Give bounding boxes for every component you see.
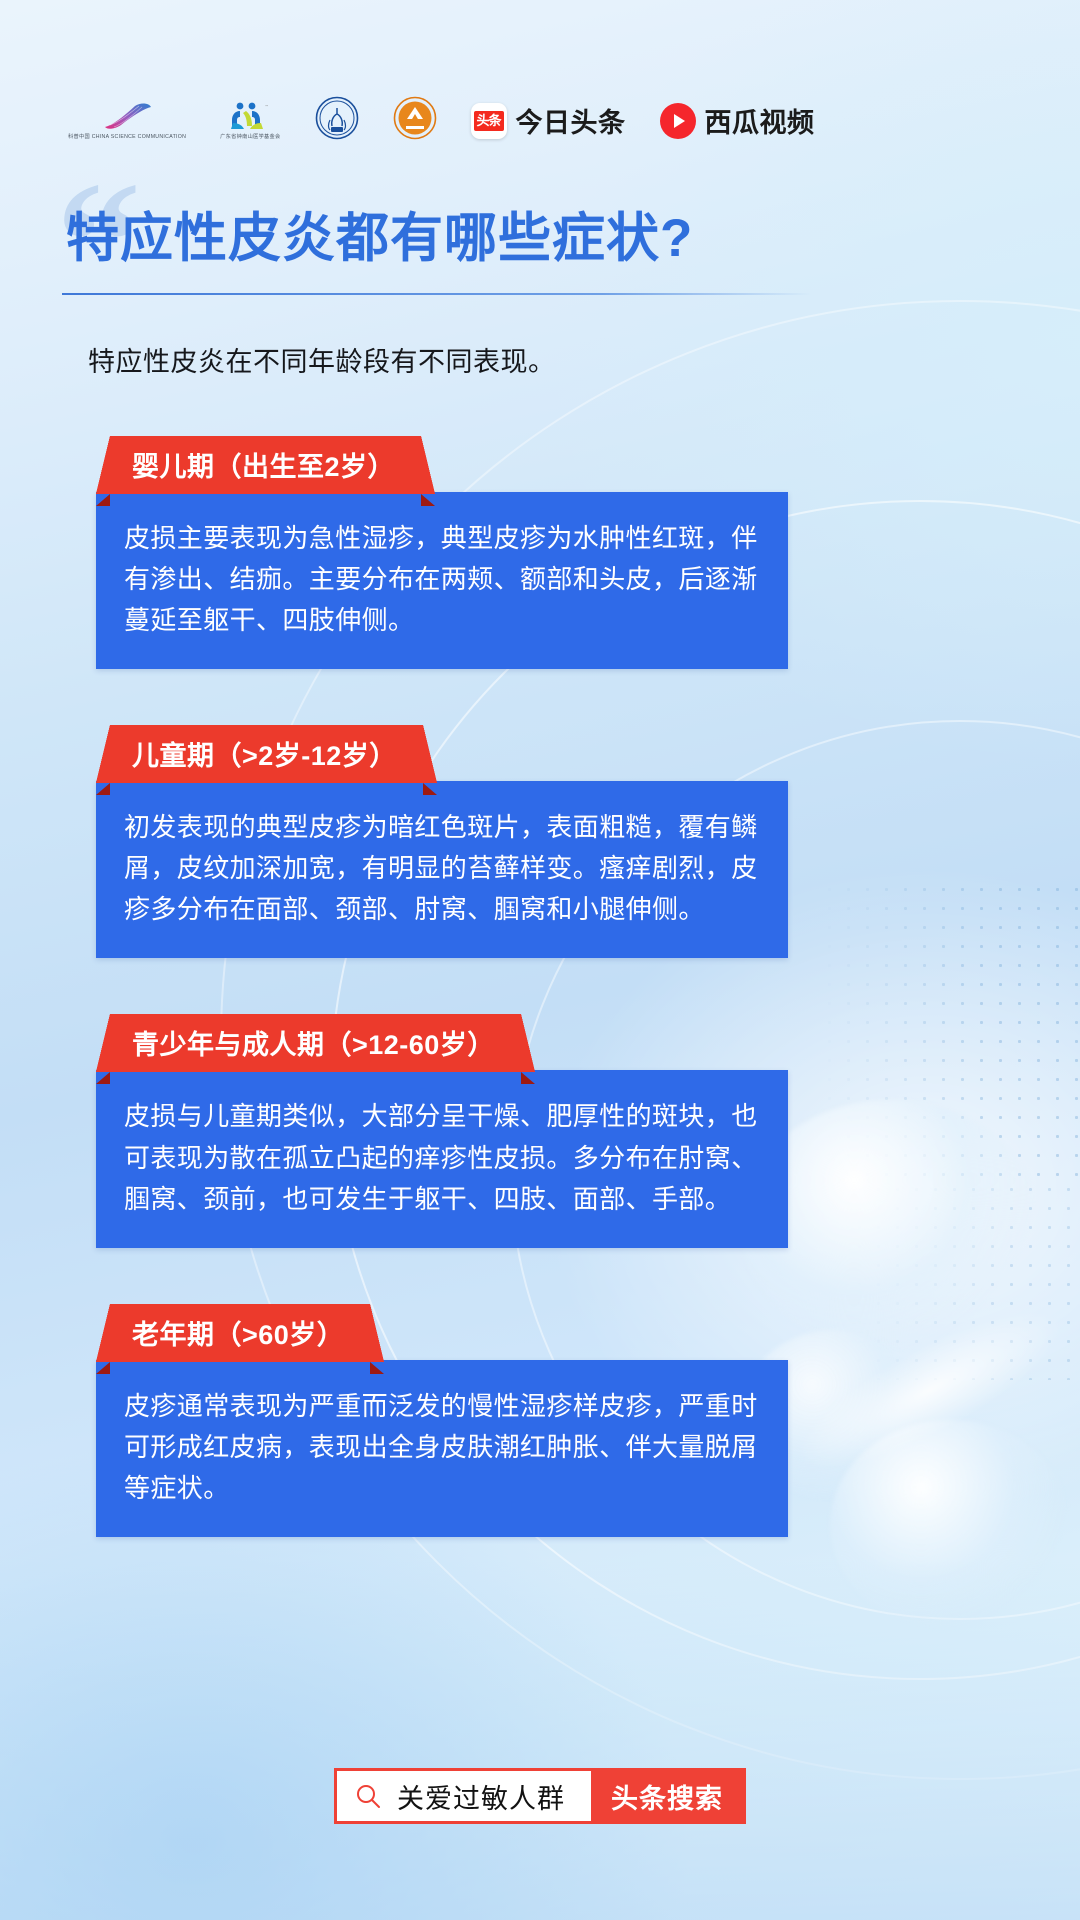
ribbon-fold-right xyxy=(521,1014,535,1072)
decorative-glow-two xyxy=(830,1420,1070,1630)
ribbon-fold-left xyxy=(96,436,110,494)
science-communication-icon xyxy=(101,101,153,131)
age-stage-card: 儿童期（>2岁-12岁） 初发表现的典型皮疹为暗红色斑片，表面粗糙，覆有鳞屑，皮… xyxy=(96,725,788,958)
search-input[interactable]: 关爱过敏人群 xyxy=(337,1771,591,1821)
card-ribbon-header: 儿童期（>2岁-12岁） xyxy=(110,725,423,783)
logo-caption: 广东省钟南山医学基金会 xyxy=(220,134,280,141)
card-ribbon-header: 婴儿期（出生至2岁） xyxy=(110,436,421,494)
age-stage-card: 青少年与成人期（>12-60岁） 皮损与儿童期类似，大部分呈干燥、肥厚性的斑块，… xyxy=(96,1014,788,1247)
xigua-play-icon xyxy=(660,103,696,139)
decorative-bottom-gradient xyxy=(0,1560,1080,1920)
card-heading: 青少年与成人期（>12-60岁） xyxy=(110,1014,521,1072)
page-title: 特应性皮炎都有哪些症状? xyxy=(66,196,926,272)
card-ribbon-header: 老年期（>60岁） xyxy=(110,1304,370,1362)
logo-guangdong-foundation: ™ 广东省钟南山医学基金会 xyxy=(220,101,280,141)
medical-association-seal-icon xyxy=(393,96,437,140)
card-body-text: 皮损与儿童期类似，大部分呈干燥、肥厚性的斑块，也可表现为散在孤立凸起的痒疹性皮损… xyxy=(96,1070,788,1247)
card-body-text: 皮损主要表现为急性湿疹，典型皮疹为水肿性红斑，伴有渗出、结痂。主要分布在两颊、额… xyxy=(96,492,788,669)
decorative-dot-pattern-lower xyxy=(850,1180,1080,1380)
search-keyword: 关爱过敏人群 xyxy=(397,1777,565,1816)
toutiao-badge-text: 头条 xyxy=(474,111,504,131)
logo-caption: 科普中国 CHINA SCIENCE COMMUNICATION xyxy=(68,134,186,141)
lead-paragraph: 特应性皮炎在不同年龄段有不同表现。 xyxy=(88,340,928,379)
card-body-text: 皮疹通常表现为严重而泛发的慢性湿疹样皮疹，严重时可形成红皮病，表现出全身皮肤潮红… xyxy=(96,1360,788,1537)
title-divider xyxy=(62,293,812,295)
toutiao-brand-name: 今日头条 xyxy=(516,101,626,140)
ribbon-fold-right xyxy=(421,436,435,494)
decorative-dot-pattern-upper xyxy=(820,880,1080,1180)
toutiao-app-icon: 头条 xyxy=(471,103,507,139)
toutiao-brand: 头条 今日头条 xyxy=(471,101,626,140)
card-body-text: 初发表现的典型皮疹为暗红色斑片，表面粗糙，覆有鳞屑，皮纹加深加宽，有明显的苔藓样… xyxy=(96,781,788,958)
ribbon-fold-right xyxy=(370,1304,384,1362)
xigua-brand-name: 西瓜视频 xyxy=(705,101,815,140)
search-bar[interactable]: 关爱过敏人群 头条搜索 xyxy=(334,1768,746,1824)
age-stage-card: 老年期（>60岁） 皮疹通常表现为严重而泛发的慢性湿疹样皮疹，严重时可形成红皮病… xyxy=(96,1304,788,1537)
age-stage-card: 婴儿期（出生至2岁） 皮损主要表现为急性湿疹，典型皮疹为水肿性红斑，伴有渗出、结… xyxy=(96,436,788,669)
ribbon-fold-left xyxy=(96,725,110,783)
respiratory-institute-seal-icon xyxy=(315,96,359,140)
search-button[interactable]: 头条搜索 xyxy=(591,1771,743,1821)
foundation-people-icon: ™ xyxy=(221,101,279,131)
ribbon-fold-left xyxy=(96,1304,110,1362)
xigua-brand: 西瓜视频 xyxy=(660,101,815,140)
ribbon-fold-left xyxy=(96,1014,110,1072)
ribbon-fold-right xyxy=(423,725,437,783)
age-stage-card-list: 婴儿期（出生至2岁） 皮损主要表现为急性湿疹，典型皮疹为水肿性红斑，伴有渗出、结… xyxy=(96,436,788,1537)
card-heading: 老年期（>60岁） xyxy=(110,1304,370,1362)
logo-china-science-communication: 科普中国 CHINA SCIENCE COMMUNICATION xyxy=(68,101,186,141)
card-heading: 儿童期（>2岁-12岁） xyxy=(110,725,423,783)
card-ribbon-header: 青少年与成人期（>12-60岁） xyxy=(110,1014,521,1072)
partner-logo-strip: 科普中国 CHINA SCIENCE COMMUNICATION ™ 广东省钟南… xyxy=(68,82,815,140)
search-icon xyxy=(355,1783,381,1809)
card-heading: 婴儿期（出生至2岁） xyxy=(110,436,421,494)
svg-text:™: ™ xyxy=(265,104,268,108)
